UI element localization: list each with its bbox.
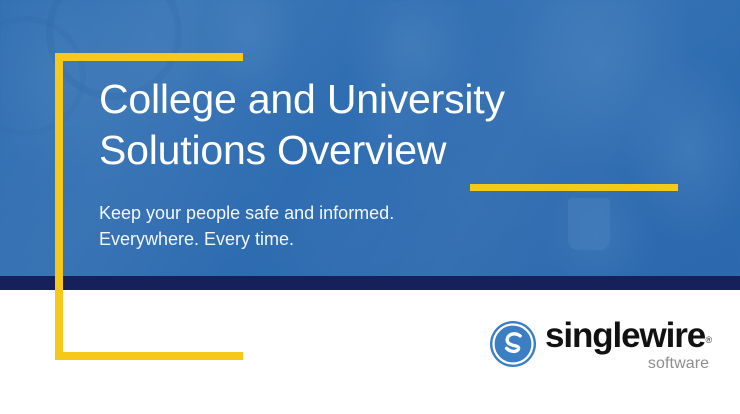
singlewire-wordmark: singlewire ® <box>545 318 712 354</box>
yellow-accent-rule <box>470 184 678 191</box>
yellow-bracket-bottom-arm <box>55 352 243 360</box>
navy-divider-band <box>0 276 740 290</box>
presentation-slide: College and University Solutions Overvie… <box>0 0 740 414</box>
singlewire-logo: singlewire ® software <box>489 318 694 380</box>
registered-trademark-icon: ® <box>706 322 713 358</box>
singlewire-circle-s-icon <box>489 320 537 368</box>
singlewire-wordmark-block: singlewire ® software <box>545 318 712 372</box>
yellow-bracket-top-arm <box>55 53 243 61</box>
singlewire-wordmark-text: singlewire <box>545 316 705 355</box>
slide-headline: College and University Solutions Overvie… <box>99 74 659 176</box>
slide-subhead: Keep your people safe and informed. Ever… <box>99 200 579 252</box>
singlewire-tagline: software <box>648 355 712 372</box>
yellow-bracket-stem <box>55 53 63 360</box>
